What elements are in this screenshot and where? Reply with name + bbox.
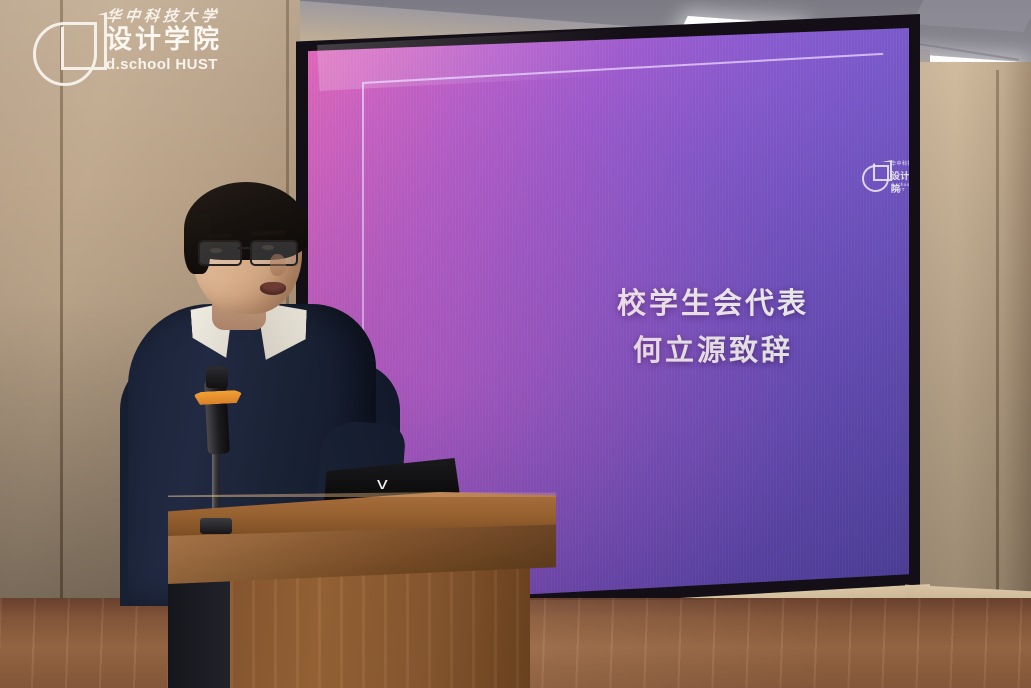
slide-border-top [362,53,883,84]
microphone-orange-clip [194,390,243,405]
slide-title-line-2: 何立源致辞 [558,330,868,371]
slide-title-line-1: 校学生会代表 [558,283,868,324]
brand-english-name: d.school HUST [106,56,276,74]
logo-quad-icon [61,12,107,70]
brand-school-name: 设计学院 [106,26,276,55]
wall-brand-logo: 华中科技大学 设计学院 d.school HUST [30,6,270,102]
glasses-lens-left [198,240,242,266]
speaker-mouth [260,282,286,295]
wall-brand-text: 华中科技大学 设计学院 d.school HUST [106,8,276,74]
slide-title: 校学生会代表 何立源致辞 [558,283,868,371]
eyeglasses-icon [198,240,302,266]
photo-scene: 华中科技大学 设计学院 d.school HUST 校学生会代表 何立源致辞 华… [0,0,1031,688]
laptop-lid-logo-icon: v [377,476,407,492]
dschool-logo-mark-icon [33,10,105,86]
slide-logo-script: 华中科技大学 [891,160,909,167]
podium-column [230,566,530,688]
microphone-base [200,518,232,534]
podium-side-shadow [168,566,238,688]
slide-logo-english: d.school HUST [891,182,909,192]
brand-university-name: 华中科技大学 [105,8,277,25]
slide-logo-quad-icon [873,160,892,181]
microphone-head [206,366,228,388]
wall-right [905,62,1031,622]
speaker-nose [270,254,286,276]
ceiling-tile [912,0,1031,32]
wall-panel-seam [996,70,999,600]
slide-corner-logo: 华中科技大学 设计学院 d.school HUST [860,156,909,200]
